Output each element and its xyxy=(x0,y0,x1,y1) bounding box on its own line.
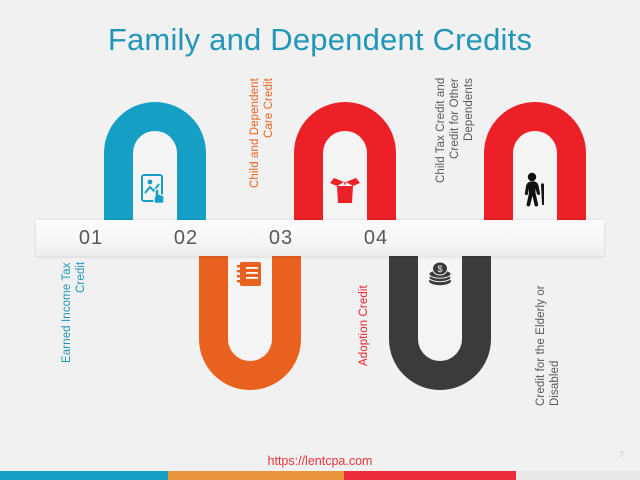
step-number-3: 03 xyxy=(251,227,311,250)
slide-canvas: Family and Dependent Credits xyxy=(0,0,640,480)
arch-4[interactable]: $ xyxy=(389,240,491,390)
document-chart-pointer-icon xyxy=(133,168,177,212)
footer-segment-red xyxy=(344,471,516,480)
footer-color-bar xyxy=(0,471,640,480)
label-earned-income-tax-credit: Earned Income Tax Credit xyxy=(60,262,88,396)
step-number-1: 01 xyxy=(61,227,121,250)
footer-segment-teal xyxy=(0,471,168,480)
open-box-icon xyxy=(323,168,367,212)
svg-text:$: $ xyxy=(437,264,442,274)
number-band: 01 02 03 04 xyxy=(36,220,604,256)
arch-diagram: $ 01 02 03 04 Earned In xyxy=(0,80,640,420)
label-credit-elderly-or-disabled: Credit for the Elderly or Disabled xyxy=(534,262,562,406)
label-child-and-dependent-care-credit: Child and Dependent Care Credit xyxy=(248,78,276,220)
footer-segment-orange xyxy=(168,471,344,480)
coin-stack-dollar-icon: $ xyxy=(418,252,462,296)
footer-segment-gray xyxy=(516,471,640,480)
step-number-4: 04 xyxy=(346,227,406,250)
notebook-list-icon xyxy=(228,252,272,296)
step-number-2: 02 xyxy=(156,227,216,250)
label-adoption-credit: Adoption Credit xyxy=(357,262,371,366)
page-title: Family and Dependent Credits xyxy=(0,22,640,58)
page-number: 7 xyxy=(619,450,624,460)
label-child-tax-credit-other-dependents: Child Tax Credit and Credit for Other De… xyxy=(434,78,476,220)
elderly-person-cane-icon xyxy=(513,168,557,212)
arch-2[interactable] xyxy=(199,240,301,390)
website-url[interactable]: https://lentcpa.com xyxy=(0,454,640,468)
